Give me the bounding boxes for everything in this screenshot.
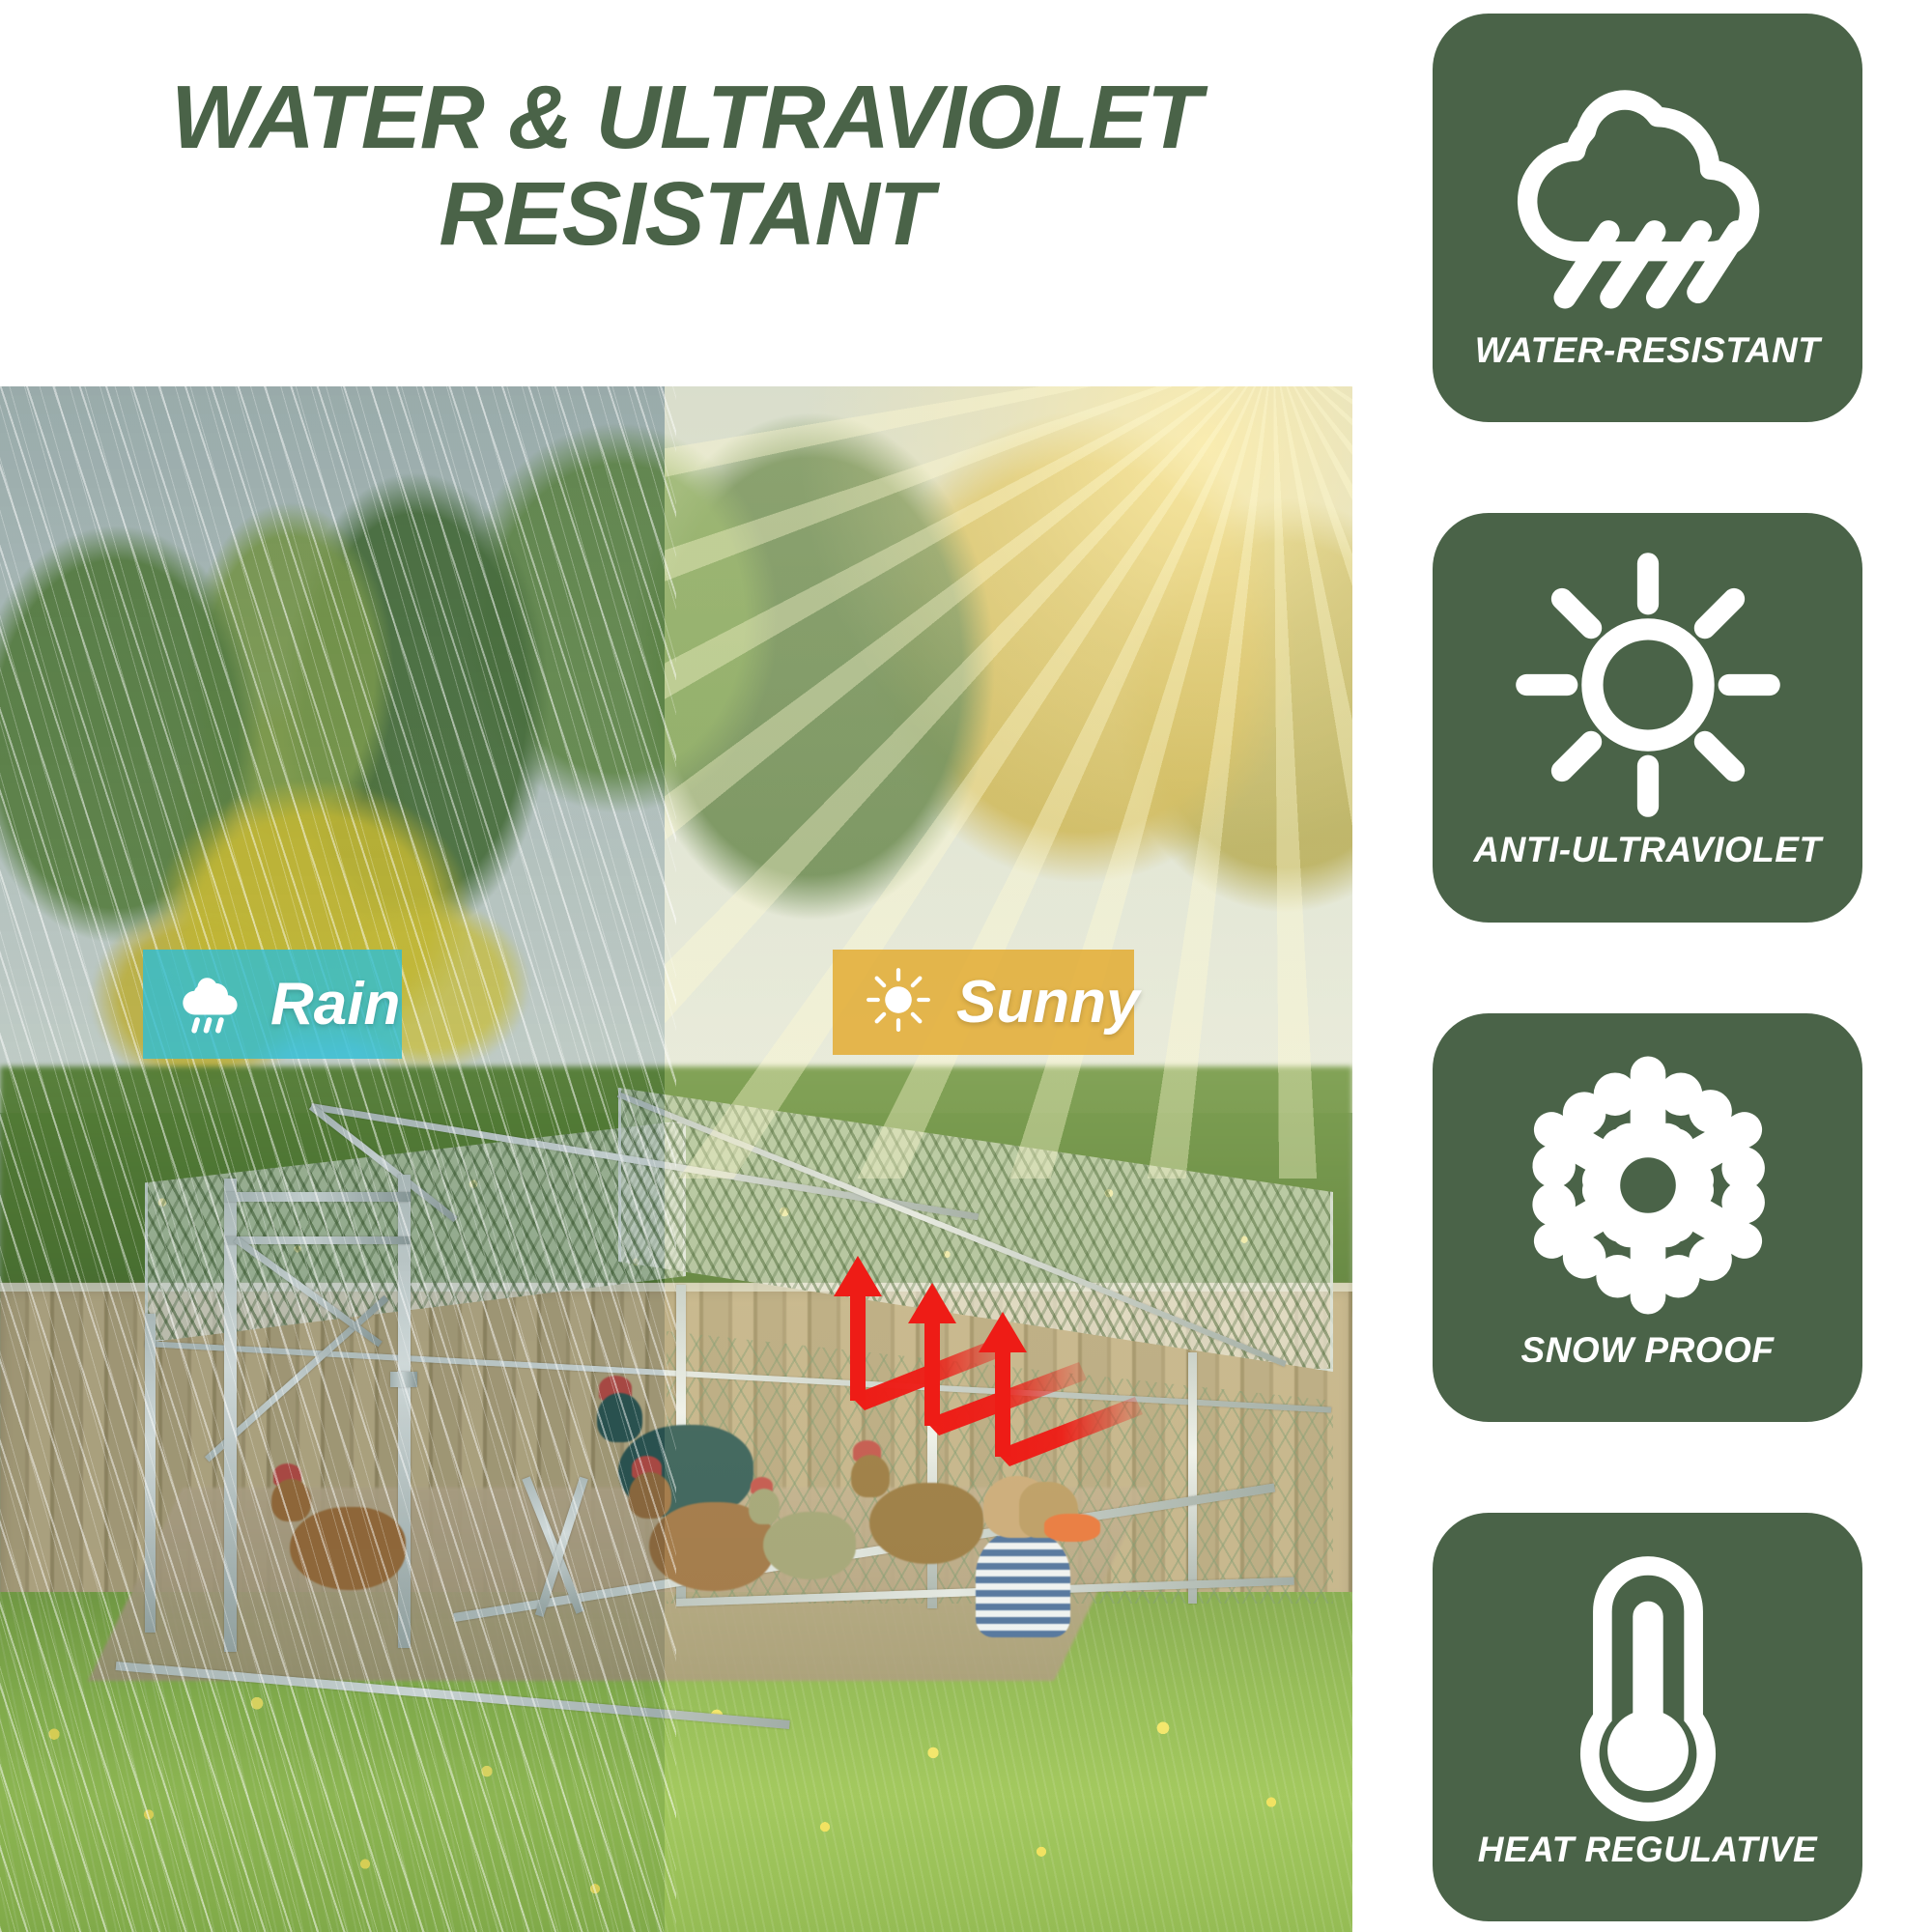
feature-card-label: HEAT REGULATIVE <box>1478 1830 1817 1870</box>
page-title-block: WATER & ULTRAVIOLET RESISTANT <box>0 70 1372 262</box>
page-title: WATER & ULTRAVIOLET RESISTANT <box>87 70 1285 262</box>
feature-card-list: WATER-RESISTANT ANTI-ULTRAVIOLET <box>1433 14 1862 1921</box>
feature-card-label: ANTI-ULTRAVIOLET <box>1473 830 1821 870</box>
badge-sunny: Sunny <box>833 950 1134 1055</box>
infographic-page: WATER & ULTRAVIOLET RESISTANT <box>0 0 1932 1932</box>
badge-rain-label: Rain <box>270 975 400 1035</box>
feature-card-label: WATER-RESISTANT <box>1475 330 1821 371</box>
cloud-rain-icon <box>176 967 245 1041</box>
product-photo: Rain Sunn <box>0 386 1352 1932</box>
cloud-rain-icon <box>1503 46 1793 325</box>
uv-reflection-arrow-icon <box>816 1246 1145 1478</box>
rain-streaks-overlay <box>0 386 676 1932</box>
feature-card-label: SNOW PROOF <box>1521 1330 1775 1371</box>
feature-card-anti-ultraviolet[interactable]: ANTI-ULTRAVIOLET <box>1433 513 1862 922</box>
sun-icon <box>1503 546 1793 824</box>
badge-sunny-label: Sunny <box>956 973 1139 1033</box>
feature-card-water-resistant[interactable]: WATER-RESISTANT <box>1433 14 1862 422</box>
badge-rain: Rain <box>143 950 402 1059</box>
snowflake-icon <box>1503 1046 1793 1324</box>
feature-card-snow-proof[interactable]: SNOW PROOF <box>1433 1013 1862 1422</box>
feature-card-heat-regulative[interactable]: HEAT REGULATIVE <box>1433 1513 1862 1921</box>
thermometer-icon <box>1503 1546 1793 1824</box>
sun-icon <box>866 967 931 1037</box>
sun-rays-overlay <box>665 386 1352 1179</box>
